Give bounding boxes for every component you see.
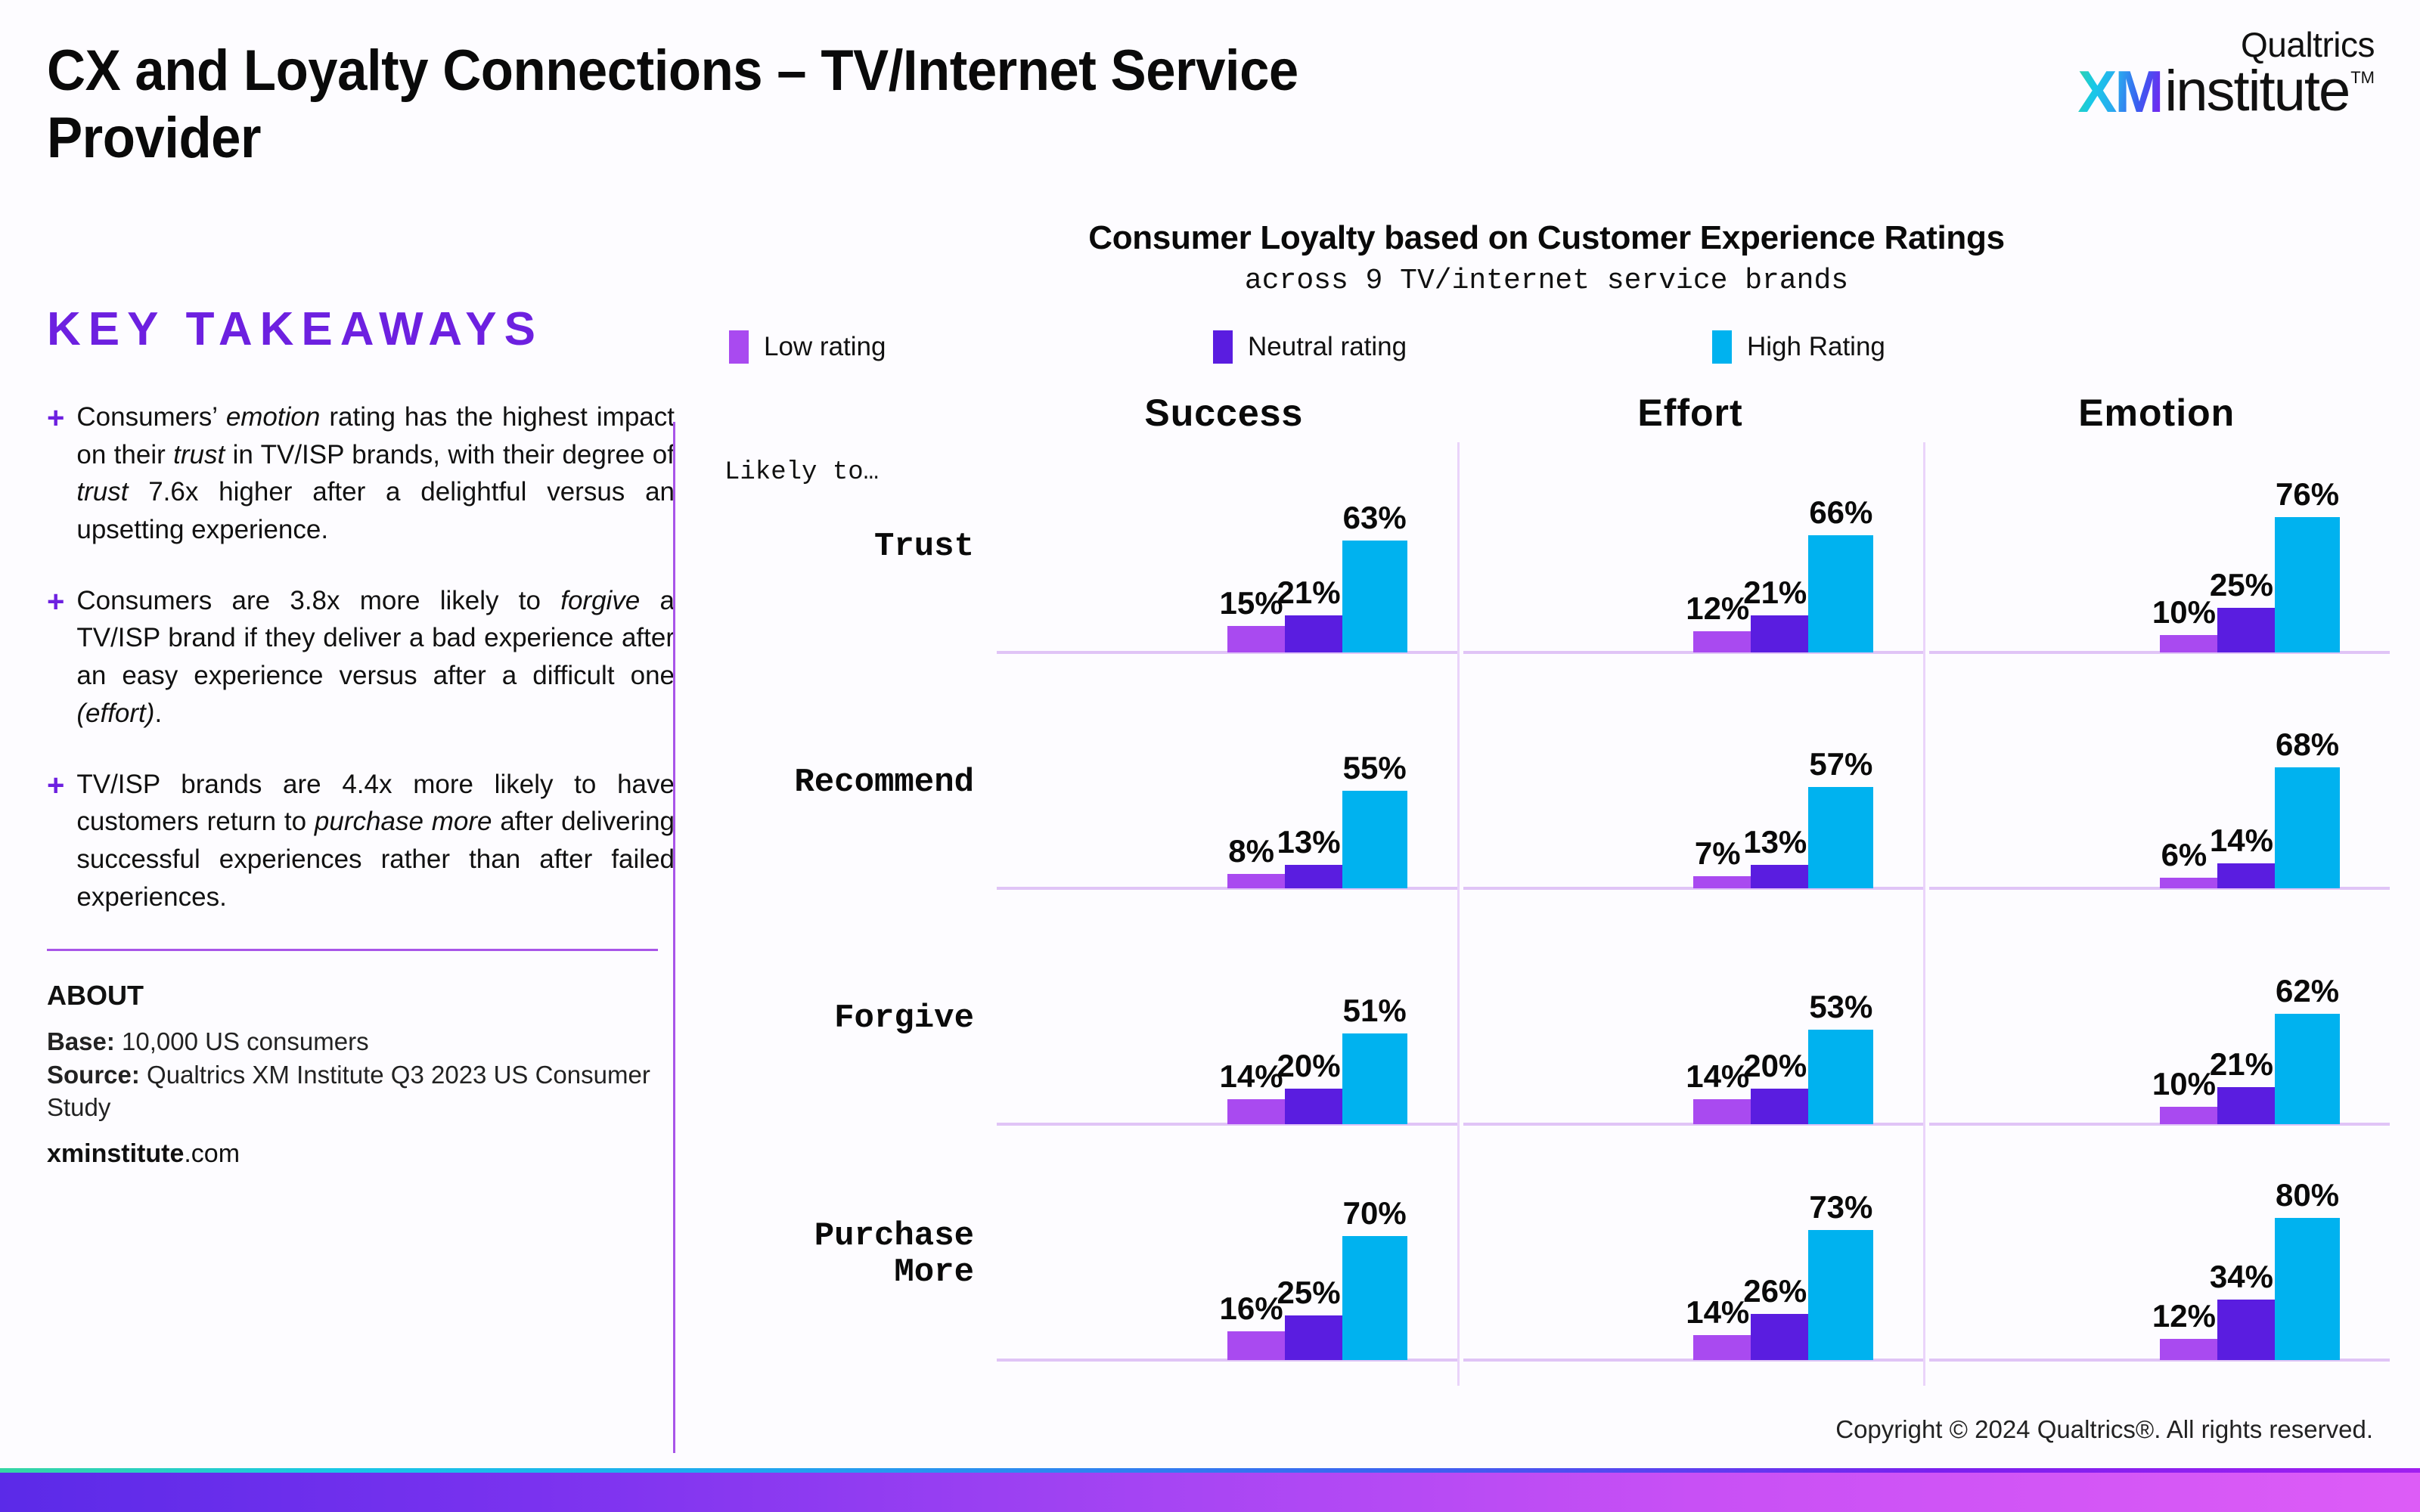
- chart-cell: 15%21%63%: [991, 442, 1457, 678]
- xminstitute-link-tld: .com: [184, 1139, 240, 1168]
- bar-column[interactable]: 14%: [1693, 1335, 1751, 1360]
- about-base-line: Base: 10,000 US consumers: [47, 1025, 675, 1058]
- bar-value-label: 34%: [2210, 1259, 2273, 1295]
- chart-cell: 12%34%80%: [1923, 1150, 2390, 1386]
- bar-value-label: 25%: [1277, 1275, 1341, 1311]
- bar-column[interactable]: 14%: [1227, 1099, 1285, 1124]
- page-title: CX and Loyalty Connections – TV/Internet…: [47, 38, 1496, 172]
- bar-column[interactable]: 25%: [2217, 608, 2275, 652]
- bar-column[interactable]: 14%: [2217, 863, 2275, 888]
- bar-value-label: 6%: [2161, 837, 2207, 873]
- bar-column[interactable]: 20%: [1751, 1089, 1808, 1124]
- row-cells: 15%21%63%12%21%66%10%25%76%: [991, 442, 2390, 678]
- bar-column[interactable]: 16%: [1227, 1331, 1285, 1360]
- bar-rect[interactable]: [2217, 1087, 2275, 1124]
- bar-rect[interactable]: [2275, 767, 2340, 888]
- about-source-line: Source: Qualtrics XM Institute Q3 2023 U…: [47, 1058, 675, 1124]
- bar-column[interactable]: 63%: [1342, 541, 1407, 652]
- bar-value-label: 10%: [2152, 594, 2216, 631]
- chart-area: Consumer Loyalty based on Customer Exper…: [703, 219, 2390, 1386]
- row-label-trust: Trust: [874, 529, 974, 565]
- bar-rect[interactable]: [1751, 865, 1808, 888]
- takeaway-list: +Consumers’ emotion rating has the highe…: [47, 398, 675, 916]
- bar-column[interactable]: 10%: [2160, 635, 2217, 653]
- legend-label: Neutral rating: [1248, 332, 1407, 362]
- copyright-notice: Copyright © 2024 Qualtrics®. All rights …: [1835, 1415, 2373, 1444]
- row-cells: 16%25%70%14%26%73%12%34%80%: [991, 1150, 2390, 1386]
- bar-value-label: 73%: [1809, 1189, 1872, 1225]
- logo-institute-word: institute: [2164, 65, 2349, 118]
- bar-value-label: 26%: [1743, 1273, 1807, 1309]
- bar-value-label: 20%: [1277, 1048, 1341, 1084]
- row-label-recommend: Recommend: [794, 765, 974, 801]
- row-label-forgive: Forgive: [834, 1001, 974, 1037]
- bar-value-label: 70%: [1343, 1195, 1407, 1232]
- bar-column[interactable]: 21%: [2217, 1087, 2275, 1124]
- bar-value-label: 25%: [2210, 567, 2273, 603]
- bar-column[interactable]: 7%: [1693, 876, 1751, 888]
- plus-icon: +: [47, 587, 64, 617]
- bar-column[interactable]: 12%: [1693, 631, 1751, 652]
- bar-column[interactable]: 13%: [1285, 865, 1342, 888]
- bar-column[interactable]: 55%: [1342, 791, 1407, 888]
- chart-cell: 14%26%73%: [1457, 1150, 1924, 1386]
- bar-rect[interactable]: [2160, 878, 2217, 888]
- row-label-cell: Forgive: [703, 914, 991, 1150]
- bar-value-label: 80%: [2276, 1177, 2339, 1213]
- chart-cell: 16%25%70%: [991, 1150, 1457, 1386]
- bar-column[interactable]: 73%: [1808, 1230, 1873, 1360]
- bar-group: 10%25%76%: [2160, 517, 2340, 652]
- bar-group: 12%34%80%: [2160, 1218, 2340, 1360]
- legend-entry[interactable]: High Rating: [1712, 330, 1885, 364]
- plus-icon: +: [47, 770, 64, 801]
- bar-value-label: 20%: [1743, 1048, 1807, 1084]
- bar-column[interactable]: 21%: [1751, 615, 1808, 652]
- bar-rect[interactable]: [1808, 787, 1873, 888]
- chart-grid: Trust15%21%63%12%21%66%10%25%76%Recommen…: [703, 442, 2390, 1386]
- chart-row: Recommend8%13%55%7%13%57%6%14%68%: [703, 678, 2390, 914]
- qualtrics-xm-institute-logo: Qualtrics XM institute TM: [2077, 27, 2375, 119]
- bar-rect[interactable]: [1693, 1099, 1751, 1124]
- left-panel: KEY TAKEAWAYS +Consumers’ emotion rating…: [47, 302, 675, 1169]
- chart-subtitle: across 9 TV/internet service brands: [703, 265, 2390, 297]
- bar-column[interactable]: 15%: [1227, 626, 1285, 652]
- bar-column[interactable]: 26%: [1751, 1314, 1808, 1360]
- trademark-icon: TM: [2350, 70, 2375, 86]
- row-cells: 14%20%51%14%20%53%10%21%62%: [991, 914, 2390, 1150]
- chart-cell: 10%25%76%: [1923, 442, 2390, 678]
- bar-column[interactable]: 14%: [1693, 1099, 1751, 1124]
- bar-value-label: 57%: [1809, 746, 1872, 782]
- bar-value-label: 21%: [1743, 575, 1807, 611]
- bar-value-label: 13%: [1743, 824, 1807, 860]
- bar-rect[interactable]: [2160, 1339, 2217, 1360]
- chart-row: PurchaseMore16%25%70%14%26%73%12%34%80%: [703, 1150, 2390, 1386]
- bar-column[interactable]: 20%: [1285, 1089, 1342, 1124]
- bar-rect[interactable]: [2275, 517, 2340, 652]
- bar-rect[interactable]: [2217, 863, 2275, 888]
- legend-entry[interactable]: Neutral rating: [1213, 330, 1712, 364]
- column-header-row: SuccessEffortEmotion: [703, 391, 2390, 435]
- plus-icon: +: [47, 403, 64, 433]
- bar-rect[interactable]: [1342, 791, 1407, 888]
- bar-group: 6%14%68%: [2160, 767, 2340, 888]
- bar-rect[interactable]: [1227, 874, 1285, 888]
- bar-value-label: 12%: [2152, 1298, 2216, 1334]
- takeaway-text: Consumers are 3.8x more likely to forgiv…: [76, 582, 675, 733]
- bar-value-label: 12%: [1686, 590, 1749, 627]
- bar-rect[interactable]: [2217, 1300, 2275, 1360]
- bar-rect[interactable]: [1285, 1315, 1342, 1360]
- bar-column[interactable]: 21%: [1285, 615, 1342, 652]
- column-separator: [1923, 442, 1925, 1386]
- takeaway-item: +TV/ISP brands are 4.4x more likely to h…: [47, 766, 675, 916]
- bar-value-label: 14%: [2210, 823, 2273, 859]
- bar-value-label: 21%: [2210, 1046, 2273, 1083]
- key-takeaways-heading: KEY TAKEAWAYS: [47, 302, 675, 356]
- row-label-cell: Trust: [703, 442, 991, 678]
- bar-rect[interactable]: [1285, 865, 1342, 888]
- legend-label: Low rating: [764, 332, 886, 362]
- chart-title: Consumer Loyalty based on Customer Exper…: [703, 219, 2390, 257]
- chart-cell: 6%14%68%: [1923, 678, 2390, 914]
- chart-row: Trust15%21%63%12%21%66%10%25%76%: [703, 442, 2390, 678]
- legend-swatch-icon: [1712, 330, 1732, 364]
- bar-value-label: 14%: [1686, 1058, 1749, 1095]
- column-header-success: Success: [991, 391, 1457, 435]
- bar-rect[interactable]: [1227, 1099, 1285, 1124]
- bar-value-label: 10%: [2152, 1066, 2216, 1102]
- bar-rect[interactable]: [1751, 615, 1808, 652]
- bar-value-label: 16%: [1220, 1290, 1283, 1327]
- legend-label: High Rating: [1747, 332, 1885, 362]
- bar-rect[interactable]: [2275, 1014, 2340, 1124]
- bar-column[interactable]: 34%: [2217, 1300, 2275, 1360]
- logo-lockup: XM institute TM: [2077, 65, 2375, 119]
- panel-divider: [673, 422, 675, 1453]
- bar-column[interactable]: 62%: [2275, 1014, 2340, 1124]
- bar-column[interactable]: 70%: [1342, 1236, 1407, 1361]
- footer-gradient-thick: [0, 1473, 2420, 1512]
- bar-rect[interactable]: [1342, 1033, 1407, 1124]
- bar-column[interactable]: 51%: [1342, 1033, 1407, 1124]
- bar-value-label: 8%: [1228, 833, 1274, 869]
- column-header-effort: Effort: [1457, 391, 1924, 435]
- legend-entry[interactable]: Low rating: [729, 330, 1213, 364]
- legend-swatch-icon: [729, 330, 749, 364]
- bar-value-label: 14%: [1220, 1058, 1283, 1095]
- row-label-purchase-more: PurchaseMore: [814, 1219, 974, 1290]
- takeaway-item: +Consumers’ emotion rating has the highe…: [47, 398, 675, 549]
- bar-value-label: 13%: [1277, 824, 1341, 860]
- xminstitute-link[interactable]: xminstitute.com: [47, 1139, 675, 1169]
- bar-group: 16%25%70%: [1227, 1236, 1407, 1361]
- row-label-cell: PurchaseMore: [703, 1150, 991, 1386]
- bar-rect[interactable]: [1227, 626, 1285, 652]
- bar-column[interactable]: 13%: [1751, 865, 1808, 888]
- bar-group: 15%21%63%: [1227, 541, 1407, 652]
- takeaway-text: Consumers’ emotion rating has the highes…: [76, 398, 675, 549]
- chart-cell: 12%21%66%: [1457, 442, 1924, 678]
- chart-row: Forgive14%20%51%14%20%53%10%21%62%: [703, 914, 2390, 1150]
- logo-xm-mark: XM: [2077, 65, 2161, 119]
- bar-rect[interactable]: [1227, 1331, 1285, 1360]
- bar-rect[interactable]: [1342, 541, 1407, 652]
- column-separator: [1457, 442, 1460, 1386]
- chart-cell: 10%21%62%: [1923, 914, 2390, 1150]
- chart-cell: 14%20%51%: [991, 914, 1457, 1150]
- bar-group: 10%21%62%: [2160, 1014, 2340, 1124]
- chart-cell: 8%13%55%: [991, 678, 1457, 914]
- bar-column[interactable]: 66%: [1808, 535, 1873, 652]
- bar-rect[interactable]: [1808, 1230, 1873, 1360]
- legend-swatch-icon: [1213, 330, 1233, 364]
- chart-cell: 7%13%57%: [1457, 678, 1924, 914]
- bar-rect[interactable]: [1342, 1236, 1407, 1361]
- bar-column[interactable]: 25%: [1285, 1315, 1342, 1360]
- bar-rect[interactable]: [1285, 1089, 1342, 1124]
- bar-rect[interactable]: [1751, 1089, 1808, 1124]
- bar-value-label: 63%: [1343, 500, 1407, 536]
- bar-group: 7%13%57%: [1693, 787, 1873, 888]
- bar-value-label: 7%: [1695, 835, 1741, 872]
- chart-legend: Low ratingNeutral ratingHigh Rating: [703, 330, 2390, 364]
- bar-group: 12%21%66%: [1693, 535, 1873, 652]
- bar-rect[interactable]: [2217, 608, 2275, 652]
- bar-group: 14%26%73%: [1693, 1230, 1873, 1360]
- takeaway-item: +Consumers are 3.8x more likely to forgi…: [47, 582, 675, 733]
- bar-value-label: 15%: [1220, 585, 1283, 621]
- bar-group: 14%20%53%: [1693, 1030, 1873, 1124]
- bar-value-label: 21%: [1277, 575, 1341, 611]
- bar-value-label: 76%: [2276, 476, 2339, 513]
- bar-value-label: 51%: [1343, 993, 1407, 1029]
- bar-value-label: 66%: [1809, 494, 1872, 531]
- bar-value-label: 68%: [2276, 727, 2339, 763]
- bar-column[interactable]: 8%: [1227, 874, 1285, 888]
- bar-column[interactable]: 68%: [2275, 767, 2340, 888]
- column-header-emotion: Emotion: [1923, 391, 2390, 435]
- bar-column[interactable]: 80%: [2275, 1218, 2340, 1360]
- about-heading: ABOUT: [47, 980, 675, 1012]
- about-source-label: Source:: [47, 1061, 140, 1089]
- chart-cell: 14%20%53%: [1457, 914, 1924, 1150]
- about-base-value: 10,000 US consumers: [115, 1027, 369, 1055]
- xminstitute-link-bold: xminstitute: [47, 1139, 184, 1168]
- row-label-cell: Recommend: [703, 678, 991, 914]
- takeaway-text: TV/ISP brands are 4.4x more likely to ha…: [76, 766, 675, 916]
- bar-group: 14%20%51%: [1227, 1033, 1407, 1124]
- bar-rect[interactable]: [2275, 1218, 2340, 1360]
- bar-rect[interactable]: [1693, 1335, 1751, 1360]
- bar-value-label: 53%: [1809, 989, 1872, 1025]
- bar-rect[interactable]: [1808, 535, 1873, 652]
- about-divider: [47, 949, 658, 951]
- bar-value-label: 55%: [1343, 750, 1407, 786]
- about-base-label: Base:: [47, 1027, 115, 1055]
- bar-rect[interactable]: [1693, 876, 1751, 888]
- row-cells: 8%13%55%7%13%57%6%14%68%: [991, 678, 2390, 914]
- bar-column[interactable]: 6%: [2160, 878, 2217, 888]
- bar-rect[interactable]: [1751, 1314, 1808, 1360]
- bar-value-label: 62%: [2276, 973, 2339, 1009]
- bar-rect[interactable]: [2160, 1107, 2217, 1125]
- bar-rect[interactable]: [2160, 635, 2217, 653]
- bar-column[interactable]: 57%: [1808, 787, 1873, 888]
- bar-column[interactable]: 10%: [2160, 1107, 2217, 1125]
- bar-rect[interactable]: [1285, 615, 1342, 652]
- bar-column[interactable]: 12%: [2160, 1339, 2217, 1360]
- bar-column[interactable]: 53%: [1808, 1030, 1873, 1124]
- bar-rect[interactable]: [1808, 1030, 1873, 1124]
- bar-column[interactable]: 76%: [2275, 517, 2340, 652]
- bar-group: 8%13%55%: [1227, 791, 1407, 888]
- bar-value-label: 14%: [1686, 1294, 1749, 1331]
- bar-rect[interactable]: [1693, 631, 1751, 652]
- logo-qualtrics-word: Qualtrics: [2077, 27, 2375, 62]
